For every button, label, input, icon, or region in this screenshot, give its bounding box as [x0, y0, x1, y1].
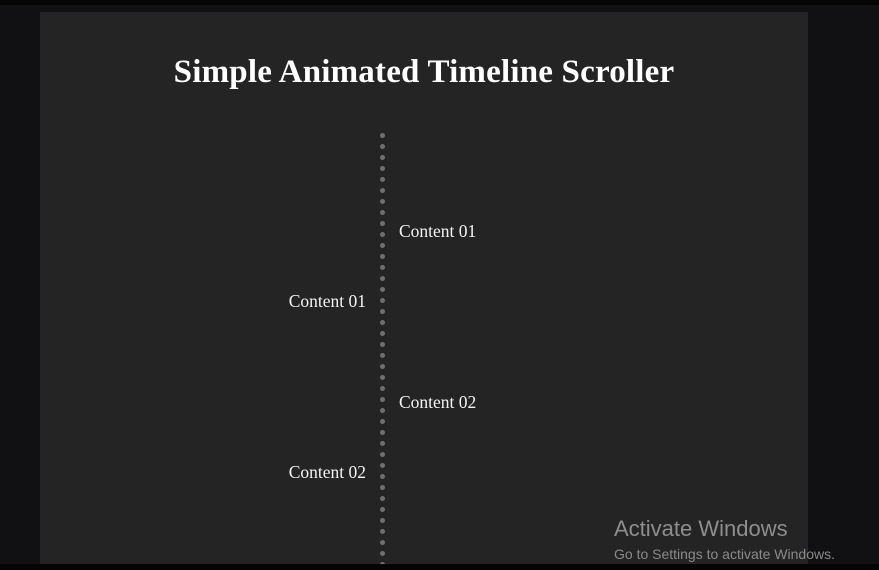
- timeline-dot: [380, 386, 385, 391]
- timeline-dot: [380, 551, 385, 556]
- page-title: Simple Animated Timeline Scroller: [153, 52, 695, 92]
- timeline-entry-label-left-2: Content 01: [126, 291, 366, 311]
- timeline-dot: [380, 342, 385, 347]
- timeline-dot: [380, 474, 385, 479]
- timeline-dot: [380, 518, 385, 523]
- timeline-dotted-rail: [380, 133, 385, 564]
- browser-viewport: Simple Animated Timeline Scroller Conten…: [0, 0, 879, 570]
- timeline-dot: [380, 276, 385, 281]
- timeline-entry-label-right-1: Content 01: [399, 221, 476, 241]
- timeline-dot: [380, 243, 385, 248]
- timeline-dot: [380, 309, 385, 314]
- timeline-dot: [380, 430, 385, 435]
- timeline-dot: [380, 441, 385, 446]
- timeline-dot: [380, 452, 385, 457]
- timeline-dot: [380, 419, 385, 424]
- activate-windows-title: Activate Windows: [614, 516, 874, 542]
- timeline-dot: [380, 177, 385, 182]
- timeline-dot: [380, 188, 385, 193]
- timeline-dot: [380, 507, 385, 512]
- timeline-dot: [380, 166, 385, 171]
- timeline-dot: [380, 397, 385, 402]
- timeline-dot: [380, 287, 385, 292]
- timeline-entry-label-right-3: Content 02: [399, 392, 476, 412]
- timeline-dot: [380, 463, 385, 468]
- timeline-dot: [380, 144, 385, 149]
- timeline-dot: [380, 254, 385, 259]
- timeline-dot: [380, 298, 385, 303]
- page-content-panel: Simple Animated Timeline Scroller Conten…: [40, 12, 808, 564]
- timeline-dot: [380, 485, 385, 490]
- timeline-dot: [380, 353, 385, 358]
- timeline-dot: [380, 265, 385, 270]
- timeline-dot: [380, 331, 385, 336]
- bottom-chrome-strip: [0, 564, 879, 570]
- timeline-dot: [380, 375, 385, 380]
- timeline-dot: [380, 529, 385, 534]
- timeline-dot: [380, 210, 385, 215]
- timeline-dot: [380, 320, 385, 325]
- timeline-dot: [380, 221, 385, 226]
- timeline-dot: [380, 133, 385, 138]
- activate-windows-subtitle: Go to Settings to activate Windows.: [614, 544, 874, 564]
- timeline-dot: [380, 232, 385, 237]
- timeline-dot: [380, 155, 385, 160]
- timeline-entry-label-left-4: Content 02: [126, 462, 366, 482]
- timeline-dot: [380, 199, 385, 204]
- timeline-dot: [380, 496, 385, 501]
- activate-windows-watermark: Activate Windows Go to Settings to activ…: [614, 516, 874, 564]
- timeline-dot: [380, 540, 385, 545]
- timeline-dot: [380, 408, 385, 413]
- top-chrome-strip: [0, 0, 879, 5]
- timeline-dot: [380, 364, 385, 369]
